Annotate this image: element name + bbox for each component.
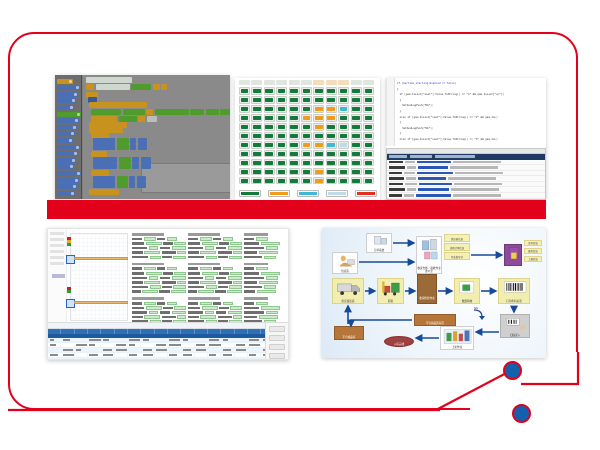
grid-cell[interactable] [351,177,362,185]
form-field-row[interactable] [244,290,284,293]
grid-cell[interactable] [351,105,362,113]
form-field-row[interactable] [244,256,284,259]
block-segment[interactable] [147,116,157,122]
grid-cell[interactable] [276,150,287,158]
grid-cell[interactable] [239,96,250,104]
code-editor-screenshot[interactable]: if (bartime_starting.Enabled == false){i… [386,78,546,200]
form-field-row[interactable] [188,311,242,314]
form-field-row[interactable] [244,311,284,314]
palette-block[interactable] [57,131,75,136]
grid-cell[interactable] [239,105,250,113]
table-cell[interactable] [248,348,261,352]
table-cell[interactable] [195,338,208,342]
block-row[interactable] [93,138,147,144]
block-segment[interactable] [138,116,145,122]
table-cell[interactable] [208,338,221,342]
gantt-bar-b[interactable] [74,301,128,304]
grid-cell[interactable] [363,141,374,149]
form-field-row[interactable] [244,315,284,318]
table-cell[interactable] [101,353,114,357]
table-cell[interactable] [75,358,88,361]
palette-block[interactable] [57,118,79,123]
table-cell[interactable] [75,343,88,347]
grid-cell[interactable] [313,150,324,158]
block-palette[interactable] [55,75,82,199]
grid-cell[interactable] [351,96,362,104]
form-field-row[interactable] [132,242,186,245]
table-cell[interactable] [195,358,208,361]
block-segment[interactable] [117,138,129,144]
grid-cells[interactable] [239,87,374,184]
grid-cell[interactable] [313,114,324,122]
table-cell[interactable] [101,343,114,347]
table-cell[interactable] [235,338,248,342]
table-cell[interactable] [141,338,154,342]
table-cell[interactable] [155,358,168,361]
table-cell[interactable] [208,353,221,357]
block-segment[interactable] [91,116,117,122]
block-row[interactable] [93,144,147,150]
grid-cell[interactable] [338,150,349,158]
table-cell[interactable] [195,348,208,352]
grid-cell[interactable] [301,168,312,176]
table-cell[interactable] [141,348,154,352]
table-column-header[interactable] [101,329,114,334]
grid-cell[interactable] [338,168,349,176]
grid-cell[interactable] [251,177,262,185]
palette-block[interactable] [57,164,74,169]
log-rows[interactable] [387,160,545,201]
block-segment[interactable] [91,132,109,138]
form-field-row[interactable] [188,290,242,293]
form-field-row[interactable] [188,315,242,318]
block-canvas[interactable] [83,75,230,199]
table-cell[interactable] [248,358,261,361]
form-field-row[interactable] [132,281,186,284]
block-segment[interactable] [141,157,151,163]
block-row[interactable] [91,116,157,122]
form-field-row[interactable] [188,237,242,240]
grid-cell[interactable] [313,87,324,95]
table-cell[interactable] [48,358,61,361]
grid-cell[interactable] [264,123,275,131]
table-cell[interactable] [155,353,168,357]
table-cell[interactable] [208,358,221,361]
grid-cell[interactable] [301,141,312,149]
grid-cell[interactable] [326,168,337,176]
grid-cell[interactable] [239,177,250,185]
table-cell[interactable] [101,358,114,361]
block-row[interactable] [93,163,151,169]
palette-block[interactable] [57,125,77,130]
table-cell[interactable] [181,358,194,361]
grid-cell[interactable] [289,159,300,167]
grid-cell[interactable] [363,123,374,131]
grid-cell[interactable] [313,159,324,167]
grid-cell[interactable] [351,132,362,140]
block-segment[interactable] [137,182,146,188]
sheet-grid-area[interactable] [70,233,128,321]
block-segment[interactable] [93,157,117,163]
grid-cell[interactable] [289,87,300,95]
block-segment[interactable] [146,109,153,115]
table-cell[interactable] [115,358,128,361]
grid-cell[interactable] [313,141,324,149]
table-row[interactable] [48,358,288,361]
grid-cell[interactable] [251,123,262,131]
table-cell[interactable] [128,343,141,347]
grid-tab[interactable] [276,80,287,85]
table-cell[interactable] [168,358,181,361]
table-side-buttons[interactable] [265,323,288,359]
block-segment[interactable] [117,144,129,150]
table-cell[interactable] [208,343,221,347]
grid-cell[interactable] [351,159,362,167]
block-segment[interactable] [93,182,115,188]
table-cell[interactable] [61,348,74,352]
grid-tab[interactable] [289,80,300,85]
form-column-1[interactable] [132,233,186,327]
block-segment[interactable] [117,182,128,188]
grid-cell[interactable] [313,123,324,131]
table-cell[interactable] [88,348,101,352]
grid-cell[interactable] [264,87,275,95]
table-cell[interactable] [75,348,88,352]
table-cell[interactable] [61,358,74,361]
grid-cell[interactable] [251,159,262,167]
palette-block[interactable] [57,85,80,90]
form-column-3[interactable] [244,233,284,327]
table-cell[interactable] [195,343,208,347]
form-field-row[interactable] [188,272,242,275]
block-row[interactable] [91,132,109,138]
table-cell[interactable] [195,353,208,357]
form-field-row[interactable] [132,256,186,259]
table-cell[interactable] [221,353,234,357]
table-cell[interactable] [61,353,74,357]
block-segment[interactable] [138,138,147,144]
table-cell[interactable] [168,343,181,347]
block-segment[interactable] [86,84,94,90]
form-field-row[interactable] [132,251,186,254]
grid-cell[interactable] [301,87,312,95]
table-column-header[interactable] [88,329,101,334]
grid-cell[interactable] [351,141,362,149]
grid-cell[interactable] [251,96,262,104]
grid-cell[interactable] [363,105,374,113]
table-cell[interactable] [115,343,128,347]
table-cell[interactable] [88,343,101,347]
form-field-row[interactable] [188,281,242,284]
form-field-row[interactable] [244,285,284,288]
grid-cell[interactable] [363,150,374,158]
grid-cell[interactable] [301,123,312,131]
table-cell[interactable] [128,338,141,342]
block-row[interactable] [91,170,109,176]
table-cell[interactable] [48,348,61,352]
form-field-row[interactable] [244,302,284,305]
table-cell[interactable] [115,353,128,357]
data-table[interactable] [48,322,288,359]
grid-cell[interactable] [289,123,300,131]
palette-block[interactable] [57,184,77,189]
form-field-row[interactable] [244,242,284,245]
form-field-row[interactable] [132,302,186,305]
table-cell[interactable] [221,343,234,347]
grid-cell[interactable] [239,87,250,95]
grid-cell[interactable] [326,132,337,140]
form-field-row[interactable] [244,281,284,284]
grid-cell[interactable] [351,87,362,95]
table-cell[interactable] [235,353,248,357]
palette-block[interactable] [57,79,73,84]
form-field-row[interactable] [132,311,186,314]
table-cell[interactable] [235,348,248,352]
grid-cell[interactable] [239,123,250,131]
grid-cell[interactable] [251,105,262,113]
palette-block[interactable] [57,105,74,110]
block-segment[interactable] [129,182,135,188]
grid-cell[interactable] [251,132,262,140]
form-field-row[interactable] [188,306,242,309]
grid-cell[interactable] [301,132,312,140]
grid-cell[interactable] [301,96,312,104]
grid-cell[interactable] [363,177,374,185]
table-cell[interactable] [221,338,234,342]
grid-cell[interactable] [251,141,262,149]
grid-cell[interactable] [338,123,349,131]
block-segment[interactable] [138,144,147,150]
block-segment[interactable] [206,109,219,115]
grid-cell[interactable] [351,114,362,122]
grid-tab[interactable] [313,80,324,85]
table-cell[interactable] [248,353,261,357]
grid-cell[interactable] [326,150,337,158]
table-cell[interactable] [128,358,141,361]
table-cell[interactable] [101,338,114,342]
grid-cell[interactable] [251,150,262,158]
table-cell[interactable] [221,348,234,352]
grid-cell[interactable] [363,132,374,140]
grid-cell[interactable] [363,114,374,122]
grid-cell[interactable] [326,141,337,149]
grid-cell[interactable] [276,105,287,113]
grid-cell[interactable] [313,105,324,113]
grid-cell[interactable] [289,105,300,113]
table-column-header[interactable] [195,329,208,334]
grid-cell[interactable] [326,87,337,95]
table-cell[interactable] [221,358,234,361]
grid-cell[interactable] [289,132,300,140]
blocks-editor-screenshot[interactable] [55,75,230,199]
grid-cell[interactable] [239,141,250,149]
palette-block[interactable] [57,145,80,150]
block-row[interactable] [91,109,230,115]
block-segment[interactable] [119,157,131,163]
block-segment[interactable] [93,163,117,169]
grid-cell[interactable] [251,114,262,122]
block-row[interactable] [86,84,167,90]
grid-cell[interactable] [276,159,287,167]
grid-cell[interactable] [301,177,312,185]
palette-block[interactable] [57,98,76,103]
block-segment[interactable] [89,102,147,108]
grid-cell[interactable] [363,168,374,176]
grid-cell[interactable] [313,177,324,185]
form-field-row[interactable] [244,306,284,309]
table-cell[interactable] [181,348,194,352]
table-cell[interactable] [75,353,88,357]
spreadsheet-screenshot[interactable] [47,228,289,360]
grid-cell[interactable] [264,96,275,104]
block-row[interactable] [93,157,151,163]
form-field-row[interactable] [188,285,242,288]
grid-cell[interactable] [326,159,337,167]
block-row[interactable] [89,189,119,195]
block-segment[interactable] [190,109,204,115]
grid-cell[interactable] [326,114,337,122]
grid-column-tabs[interactable] [239,80,374,85]
block-segment[interactable] [153,84,160,90]
table-column-header[interactable] [75,329,88,334]
grid-cell[interactable] [289,141,300,149]
grid-cell[interactable] [239,168,250,176]
table-cell[interactable] [88,358,101,361]
table-cell[interactable] [235,343,248,347]
block-segment[interactable] [96,84,130,90]
grid-cell[interactable] [363,96,374,104]
grid-cell[interactable] [301,114,312,122]
table-cell[interactable] [208,348,221,352]
grid-cell[interactable] [264,177,275,185]
grid-cell[interactable] [313,96,324,104]
gantt-bar-a[interactable] [74,257,128,260]
block-segment[interactable] [117,176,128,182]
block-segment[interactable] [130,144,136,150]
block-segment[interactable] [155,109,189,115]
grid-tab[interactable] [301,80,312,85]
table-cell[interactable] [88,353,101,357]
form-field-row[interactable] [188,267,242,270]
table-cell[interactable] [168,338,181,342]
form-field-row[interactable] [132,276,186,279]
form-field-row[interactable] [132,246,186,249]
form-field-row[interactable] [132,285,186,288]
status-grid-screenshot[interactable] [235,78,380,200]
grid-cell[interactable] [363,87,374,95]
grid-tab[interactable] [239,80,250,85]
form-field-row[interactable] [132,306,186,309]
table-cell[interactable] [48,343,61,347]
grid-tab[interactable] [264,80,275,85]
grid-cell[interactable] [301,150,312,158]
logistics-flowchart-screenshot[interactable]: 供应商 订单系统 收货台账／验收作业办公室 供应商信息 采购订单信息 作业指导书 [322,228,546,358]
grid-cell[interactable] [276,87,287,95]
table-cell[interactable] [155,338,168,342]
palette-block[interactable] [57,112,81,117]
grid-cell[interactable] [301,105,312,113]
grid-cell[interactable] [276,141,287,149]
grid-cell[interactable] [363,159,374,167]
grid-cell[interactable] [313,168,324,176]
grid-tab[interactable] [326,80,337,85]
form-field-row[interactable] [132,237,186,240]
grid-cell[interactable] [264,105,275,113]
block-segment[interactable] [119,163,131,169]
block-segment[interactable] [91,170,109,176]
grid-cell[interactable] [338,159,349,167]
table-cell[interactable] [141,343,154,347]
grid-cell[interactable] [338,96,349,104]
block-segment[interactable] [91,151,107,157]
table-cell[interactable] [61,338,74,342]
grid-cell[interactable] [326,96,337,104]
table-cell[interactable] [128,348,141,352]
grid-cell[interactable] [251,87,262,95]
table-column-header[interactable] [61,329,74,334]
grid-cell[interactable] [264,132,275,140]
form-field-row[interactable] [188,246,242,249]
table-column-header[interactable] [221,329,234,334]
grid-cell[interactable] [338,87,349,95]
block-segment[interactable] [141,163,151,169]
grid-cell[interactable] [239,150,250,158]
grid-cell[interactable] [251,168,262,176]
palette-block[interactable] [57,158,76,163]
grid-cell[interactable] [338,114,349,122]
grid-cell[interactable] [351,150,362,158]
table-cell[interactable] [181,338,194,342]
table-column-header[interactable] [208,329,221,334]
table-column-header[interactable] [168,329,181,334]
grid-cell[interactable] [301,159,312,167]
grid-cell[interactable] [276,168,287,176]
palette-block[interactable] [57,138,73,143]
form-field-row[interactable] [244,276,284,279]
palette-block[interactable] [57,92,78,97]
form-field-row[interactable] [188,302,242,305]
form-field-row[interactable] [244,246,284,249]
block-segment[interactable] [89,189,119,195]
palette-block[interactable] [57,178,79,183]
table-cell[interactable] [235,358,248,361]
block-row[interactable] [93,176,146,182]
grid-cell[interactable] [289,96,300,104]
grid-cell[interactable] [276,96,287,104]
form-field-row[interactable] [188,276,242,279]
block-segment[interactable] [119,116,137,122]
block-segment[interactable] [131,84,151,90]
table-cell[interactable] [168,353,181,357]
form-field-row[interactable] [244,272,284,275]
table-column-header[interactable] [248,329,261,334]
table-cell[interactable] [101,348,114,352]
block-row[interactable] [89,102,147,108]
palette-block[interactable] [57,171,81,176]
grid-cell[interactable] [276,132,287,140]
table-column-header[interactable] [128,329,141,334]
table-column-header[interactable] [155,329,168,334]
block-segment[interactable] [137,176,146,182]
block-segment[interactable] [220,109,230,115]
table-cell[interactable] [181,343,194,347]
table-cell[interactable] [248,343,261,347]
grid-cell[interactable] [264,159,275,167]
block-segment[interactable] [93,144,115,150]
grid-cell[interactable] [276,114,287,122]
table-cell[interactable] [115,338,128,342]
grid-cell[interactable] [289,168,300,176]
